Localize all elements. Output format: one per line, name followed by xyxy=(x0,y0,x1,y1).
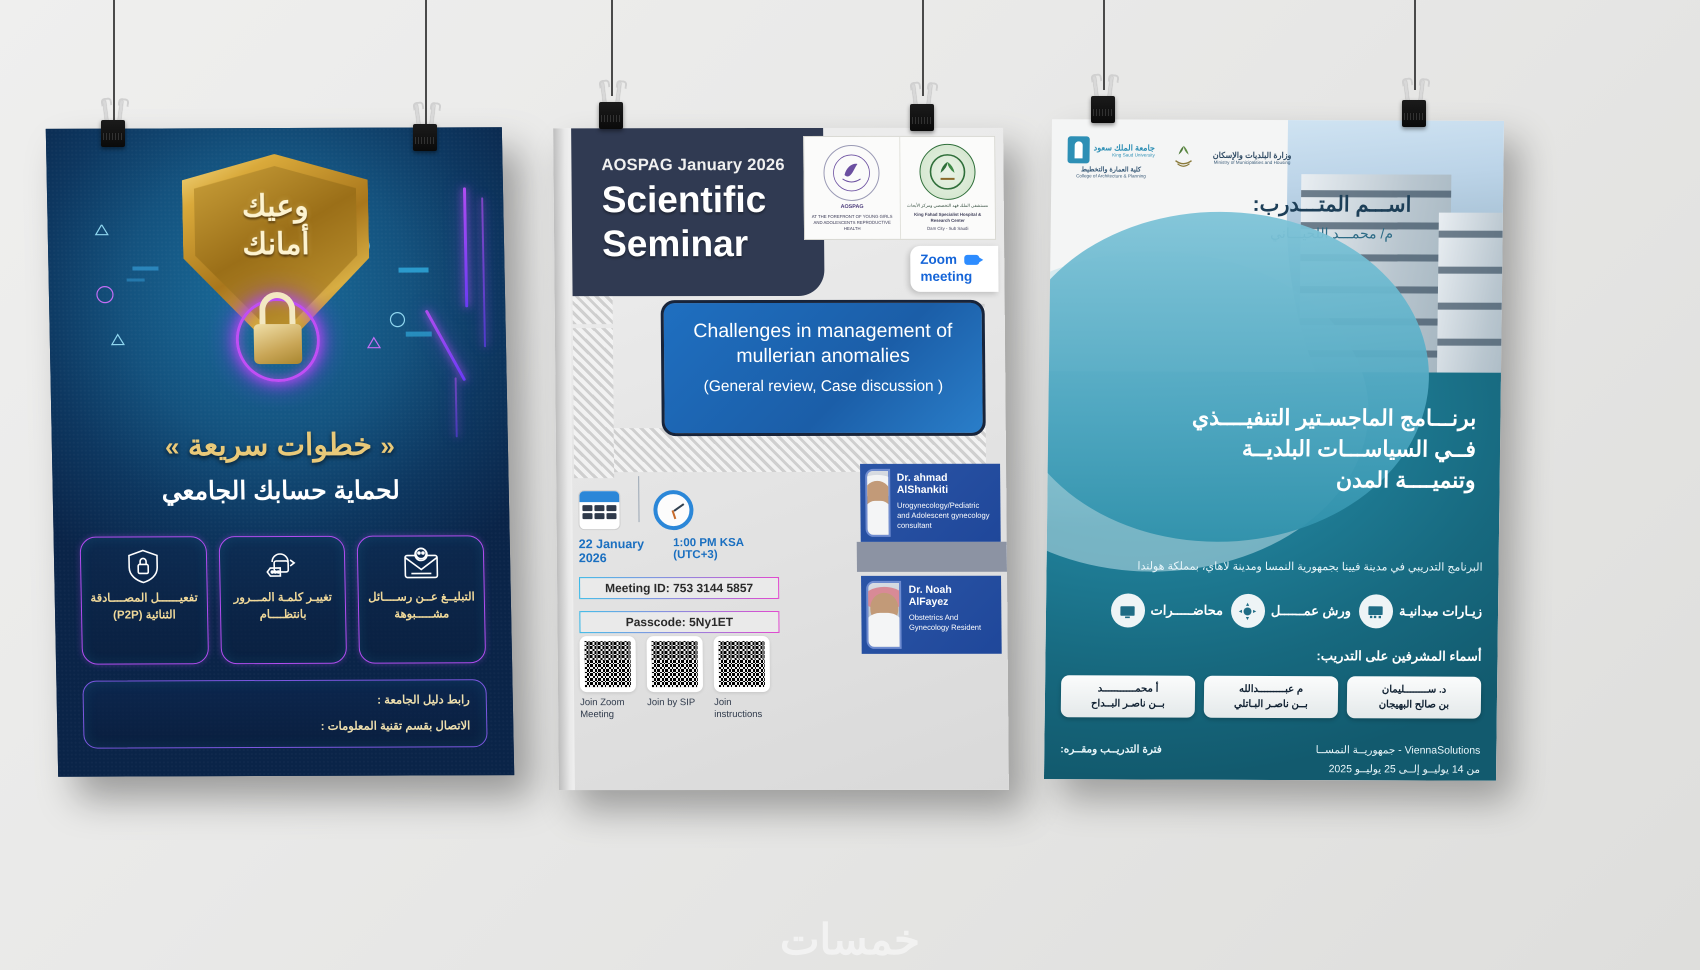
qr-join-instructions[interactable]: Join instructions xyxy=(714,636,771,721)
password-change-icon xyxy=(262,546,303,586)
chevron-right-glyph: » xyxy=(165,431,180,461)
hospital-caption-ar: مستشفى الملك فهد التخصصي ومركز الأبحاث xyxy=(907,203,988,209)
poster-municipal-policies-program[interactable]: وزارة البلديات والإسكان Ministry of Muni… xyxy=(1044,119,1504,781)
hatch-decoration-mid xyxy=(573,328,614,478)
supervisor-line1: م عبـــــــــدالله xyxy=(1239,682,1303,697)
hanging-string xyxy=(1103,0,1105,90)
hanging-string xyxy=(922,0,924,96)
qr-join-by-sip[interactable]: Join by SIP xyxy=(647,636,704,721)
hanging-string xyxy=(1414,0,1416,90)
poster2-hero-panel: AOSPAG January 2026 Scientific Seminar xyxy=(571,128,824,296)
binder-clip xyxy=(98,112,128,148)
qr-label: Join instructions xyxy=(714,697,770,721)
binder-clip xyxy=(1088,88,1118,124)
seminar-title-line1: Scientific xyxy=(602,181,824,219)
shield-text-line1: وعيك xyxy=(182,188,369,226)
speaker-role: Obstetrics And Gynecology Resident xyxy=(909,613,994,633)
seminar-time: 1:00 PM KSA (UTC+3) xyxy=(673,537,779,565)
logo-label-ar: وزارة البلديات والإسكان xyxy=(1213,151,1292,160)
tip-card-two-factor[interactable]: تفعيــــــل المصــــادقة الثنائية (P2P) xyxy=(80,536,209,664)
ksu-label-en: King Saud University xyxy=(1094,152,1155,157)
tips-card-row: التبليــغ عــن رســــائل مشـــــبوهة تغي… xyxy=(80,535,487,664)
tip-card-label: تغييـر كلمـة المـــرور بانتظــــام xyxy=(220,590,345,624)
zoom-badge-label: Zoom xyxy=(920,252,957,267)
poster-scientific-seminar[interactable]: AOSPAG January 2026 Scientific Seminar A… xyxy=(553,128,1009,790)
date-group xyxy=(578,490,624,530)
speaker-role: Urogynecology/Pediatric and Adolescent g… xyxy=(897,501,993,532)
avatar xyxy=(865,469,890,537)
logo-label-en: Ministry of Municipalities and Housing xyxy=(1214,160,1291,165)
supervisor-line2: بــن ناصـر البـاتلي xyxy=(1234,697,1308,712)
tip-card-change-password[interactable]: تغييـر كلمـة المـــرور بانتظــــام xyxy=(218,536,347,664)
divider xyxy=(638,476,639,522)
meeting-id-field[interactable]: Meeting ID: 753 3144 5857 xyxy=(579,577,779,599)
topic-subtitle: (General review, Case discussion ) xyxy=(678,378,968,396)
binder-clip xyxy=(1399,92,1429,128)
poster1-title-text: خطوات سريعة xyxy=(187,429,372,463)
zoom-meeting-badge[interactable]: Zoom meeting xyxy=(910,246,998,292)
qr-label: Join by SIP xyxy=(647,697,703,709)
hospital-caption-en: King Fahad Specialist Hospital & Researc… xyxy=(906,212,990,224)
shield-text-line2: أمانك xyxy=(183,225,370,263)
ministry-of-municipalities-logo: وزارة البلديات والإسكان Ministry of Muni… xyxy=(1213,151,1292,165)
hanging-string xyxy=(425,0,427,132)
speaker-name: Dr. ahmad AlShankiti xyxy=(897,472,993,496)
king-fahad-specialist-hospital-logo: مستشفى الملك فهد التخصصي ومركز الأبحاث K… xyxy=(899,137,995,239)
tip-card-report-phishing[interactable]: التبليــغ عــن رســــائل مشـــــبوهة xyxy=(357,535,486,663)
seminar-datetime-block: 22 January 2026 1:00 PM KSA (UTC+3) Meet… xyxy=(578,476,779,633)
supervisor-card: م عبـــــــــدالله بــن ناصـر البـاتلي xyxy=(1204,676,1339,718)
saudi-emblem-icon xyxy=(1169,143,1199,173)
clock-icon xyxy=(653,490,693,530)
ksu-mark-icon xyxy=(1067,136,1089,163)
training-dates-value: من 14 يوليــو إلــى 25 يوليــو 2025 xyxy=(1329,763,1481,776)
program-title: برنـــامج الماجسـتير التنفيــــذي فــي ا… xyxy=(1175,402,1476,497)
lectures-icon xyxy=(1110,593,1144,627)
training-period-value: ViennaSolutions - جمهوريــة النمســا xyxy=(1316,744,1481,757)
zoom-badge-label2: meeting xyxy=(920,269,998,286)
poster1-subtitle: لحماية حسابك الجامعي xyxy=(52,475,509,507)
supervisor-card: أ محمـــــــــــد بــن ناصـر البــداح xyxy=(1061,675,1196,717)
supervisor-card: د. ســــــــليمان بن صالح البهيجان xyxy=(1347,676,1482,718)
binder-clip xyxy=(596,94,626,130)
topic-title: Challenges in management of mullerian an… xyxy=(678,319,968,370)
feature-workshops: ورش عمــــــل xyxy=(1231,594,1351,628)
seminar-topic-panel: Challenges in management of mullerian an… xyxy=(661,300,986,436)
qr-code-row: Join Zoom Meeting Join by SIP Join instr… xyxy=(580,636,771,721)
aospag-caption: AT THE FOREFRONT OF YOUNG GIRLS AND ADOL… xyxy=(810,214,894,231)
speaker-card-ahmad-alshankiti: Dr. ahmad AlShankiti Urogynecology/Pedia… xyxy=(860,464,1001,542)
watermark: خمسات xyxy=(0,915,1700,964)
tip-card-label: تفعيــــــل المصــــادقة الثنائية (P2P) xyxy=(82,590,207,624)
supervisor-line1: د. ســــــــليمان xyxy=(1382,682,1447,697)
ksu-label-ar: جامعة الملك سعود xyxy=(1094,143,1155,152)
supervisor-line2: بن صالح البهيجان xyxy=(1379,697,1449,712)
supervisor-line2: بــن ناصـر البــداح xyxy=(1091,696,1165,711)
college-label-en: College of Architecture & Planning xyxy=(1076,173,1146,178)
king-saud-university-logo: جامعة الملك سعود King Saud University كل… xyxy=(1067,136,1155,178)
field-visits-icon xyxy=(1359,594,1393,628)
poster3-teal-panel: برنـــامج الماجسـتير التنفيــــذي فــي ا… xyxy=(1044,371,1501,781)
poster1-footer-box: رابط دليل الجامعة : الاتصال بقسم تقنية ا… xyxy=(82,679,487,748)
program-features: زيـارات ميدانيـة ورش عمــــــل xyxy=(1062,593,1482,628)
neon-padlock-icon xyxy=(235,298,321,382)
qr-code-icon[interactable] xyxy=(714,636,770,692)
avatar xyxy=(866,581,902,649)
qr-code-icon[interactable] xyxy=(647,636,703,692)
college-label-ar: كلية العمارة والتخطيط xyxy=(1081,165,1141,173)
hatch-decoration-left xyxy=(573,296,613,324)
supervisor-line1: أ محمـــــــــــد xyxy=(1098,681,1159,696)
skull-envelope-icon xyxy=(400,545,441,585)
tip-card-label: التبليــغ عــن رســــائل مشـــــبوهة xyxy=(359,589,484,623)
workshop-icon xyxy=(1231,594,1265,628)
video-camera-icon xyxy=(964,255,979,265)
time-group xyxy=(653,490,699,530)
seminar-title-line2: Seminar xyxy=(602,225,824,263)
shield-lock-icon xyxy=(123,546,164,586)
seminar-kicker: AOSPAG January 2026 xyxy=(601,156,823,175)
speaker-card-noah-alfayez: Dr. Noah AlFayez Obstetrics And Gynecolo… xyxy=(861,576,1002,654)
feature-label: محاضـــــرات xyxy=(1150,603,1223,619)
supervisors-label: أسماء المشرفين على التدريب: xyxy=(1316,648,1481,665)
feature-label: زيـارات ميدانيـة xyxy=(1399,603,1482,619)
hanging-string xyxy=(611,0,613,96)
supervisors-row: د. ســــــــليمان بن صالح البهيجان م عبـ… xyxy=(1061,675,1482,718)
passcode-field[interactable]: Passcode: 5Ny1ET xyxy=(579,611,779,633)
feature-lectures: محاضـــــرات xyxy=(1110,593,1223,627)
training-period-block: ViennaSolutions - جمهوريــة النمســا فتر… xyxy=(1060,743,1480,781)
binder-clip xyxy=(410,116,440,152)
footer-line-university-guide: رابط دليل الجامعة : xyxy=(84,692,470,707)
aospag-logo: AOSPAG AT THE FOREFRONT OF YOUNG GIRLS A… xyxy=(804,137,899,239)
seminar-date: 22 January 2026 xyxy=(579,537,666,565)
hospital-caption-city: Dam City - Sub Saudi xyxy=(927,226,968,232)
training-period-label: فترة التدريــب ومقــره: xyxy=(1060,743,1162,755)
qr-label: Join Zoom Meeting xyxy=(580,697,636,721)
speaker-name: Dr. Noah AlFayez xyxy=(909,584,994,608)
binder-clip xyxy=(907,96,937,132)
feature-field-visits: زيـارات ميدانيـة xyxy=(1359,594,1482,628)
organizer-logos: AOSPAG AT THE FOREFRONT OF YOUNG GIRLS A… xyxy=(803,136,996,240)
program-description: البرنامج التدريبي في مدينة فيينا بجمهوري… xyxy=(1062,559,1482,573)
chevron-left-glyph: « xyxy=(380,431,395,461)
institution-logos: وزارة البلديات والإسكان Ministry of Muni… xyxy=(1067,137,1488,178)
aospag-acronym: AOSPAG xyxy=(841,204,864,211)
feature-label: ورش عمــــــل xyxy=(1271,603,1351,619)
calendar-icon xyxy=(578,490,620,530)
qr-join-zoom-meeting[interactable]: Join Zoom Meeting xyxy=(580,636,637,721)
poster-cyber-awareness[interactable]: وعيك أمانك « خطوات سريعة » لحماية حسابك … xyxy=(46,127,514,776)
poster1-title: « خطوات سريعة » xyxy=(52,427,509,464)
qr-code-icon[interactable] xyxy=(580,636,636,692)
gray-accent-band xyxy=(857,542,1007,572)
footer-line-it-contact: الاتصال بقسم تقنية المعلومات : xyxy=(84,718,470,733)
